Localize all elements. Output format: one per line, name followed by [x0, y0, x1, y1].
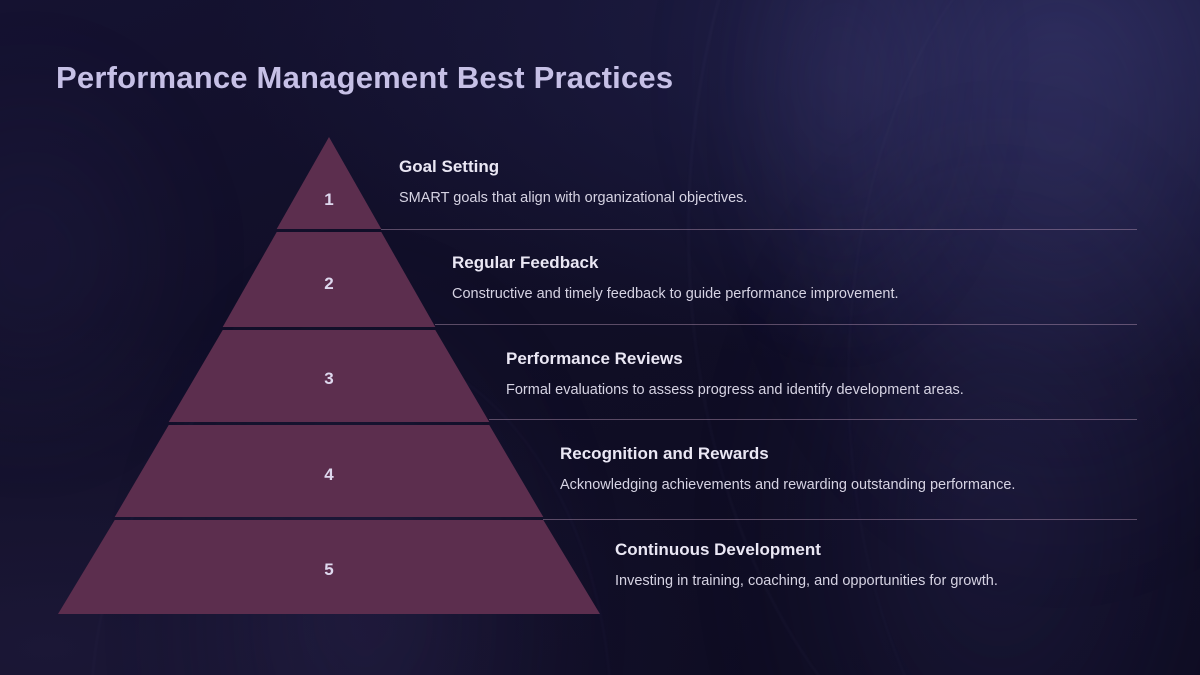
level-number-3: 3	[307, 369, 351, 389]
level-text-1: Goal Setting SMART goals that align with…	[399, 157, 747, 206]
level-description-2: Constructive and timely feedback to guid…	[452, 286, 899, 302]
level-number-1: 1	[307, 190, 351, 210]
level-heading-5: Continuous Development	[615, 540, 998, 560]
level-description-3: Formal evaluations to assess progress an…	[506, 382, 964, 398]
level-divider-1	[381, 229, 1137, 230]
level-divider-3	[489, 419, 1137, 420]
level-description-1: SMART goals that align with organization…	[399, 190, 747, 206]
pyramid-shape	[0, 0, 1200, 675]
level-heading-4: Recognition and Rewards	[560, 444, 1015, 464]
level-heading-1: Goal Setting	[399, 157, 747, 177]
level-text-3: Performance Reviews Formal evaluations t…	[506, 349, 964, 398]
level-number-4: 4	[307, 465, 351, 485]
level-number-5: 5	[307, 560, 351, 580]
level-text-4: Recognition and Rewards Acknowledging ac…	[560, 444, 1015, 493]
level-divider-4	[543, 519, 1137, 520]
level-divider-2	[435, 324, 1137, 325]
level-heading-2: Regular Feedback	[452, 253, 899, 273]
pyramid-band-1[interactable]	[277, 137, 382, 229]
level-description-5: Investing in training, coaching, and opp…	[615, 573, 998, 589]
level-number-2: 2	[307, 274, 351, 294]
level-description-4: Acknowledging achievements and rewarding…	[560, 477, 1015, 493]
level-heading-3: Performance Reviews	[506, 349, 964, 369]
slide-canvas: Performance Management Best Practices 1 …	[0, 0, 1200, 675]
level-text-2: Regular Feedback Constructive and timely…	[452, 253, 899, 302]
level-text-5: Continuous Development Investing in trai…	[615, 540, 998, 589]
pyramid-diagram: 1 2 3 4 5 Goal Setting SMART goals that …	[0, 0, 1200, 675]
